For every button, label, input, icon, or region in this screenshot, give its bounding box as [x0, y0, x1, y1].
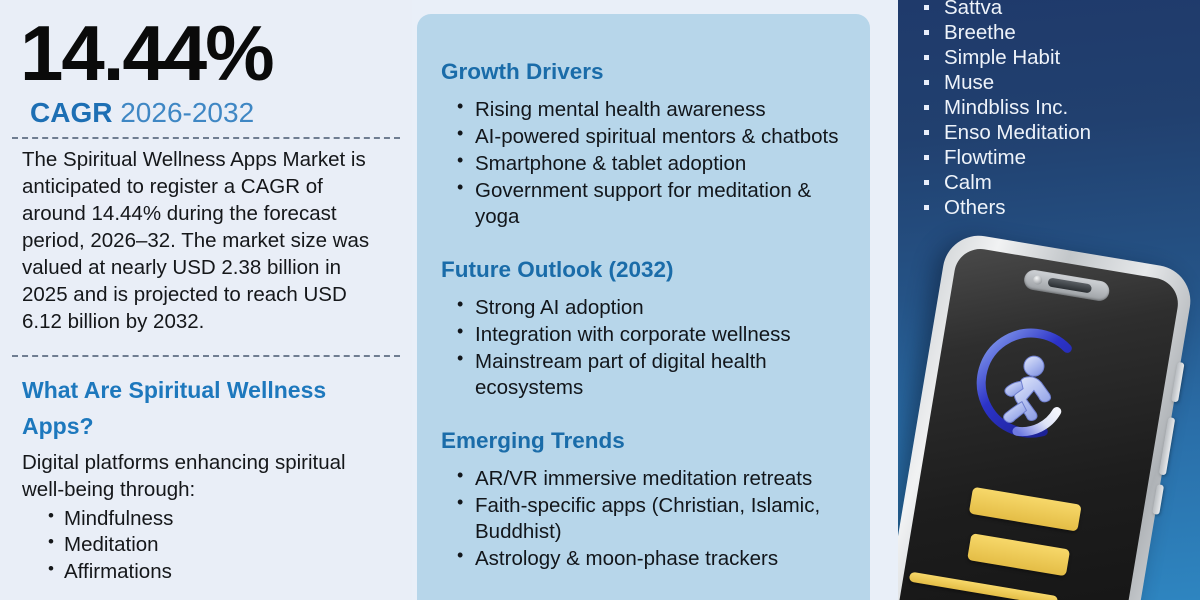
cagr-years: 2026-2032 — [120, 97, 254, 128]
phone-content-bar — [909, 572, 1059, 600]
list-item: AI-powered spiritual mentors & chatbots — [457, 124, 854, 150]
list-item: Simple Habit — [920, 45, 1200, 70]
right-panel: Sattva Breethe Simple Habit Muse Mindbli… — [898, 0, 1200, 600]
market-summary-text: The Spiritual Wellness Apps Market is an… — [12, 139, 400, 335]
cagr-label: CAGR — [30, 97, 112, 128]
phone-content-bar — [969, 487, 1082, 532]
cagr-value: 14.44% — [12, 0, 400, 92]
key-players-list: Sattva Breethe Simple Habit Muse Mindbli… — [920, 0, 1200, 220]
list-item: AR/VR immersive meditation retreats — [457, 466, 854, 492]
list-item: Smartphone & tablet adoption — [457, 151, 854, 177]
list-item: Government support for meditation & yoga — [457, 178, 854, 230]
divider-top — [12, 137, 400, 139]
list-item: Flowtime — [920, 145, 1200, 170]
list-item: Calm — [920, 170, 1200, 195]
list-item: Mainstream part of digital health ecosys… — [457, 349, 854, 401]
list-item: Strong AI adoption — [457, 295, 854, 321]
list-item: Rising mental health awareness — [457, 97, 854, 123]
list-item: Others — [920, 195, 1200, 220]
phone-screen — [898, 245, 1182, 600]
list-item: Sattva — [920, 0, 1200, 20]
infographic-canvas: 14.44% CAGR 2026-2032 The Spiritual Well… — [0, 0, 1200, 600]
list-item: Integration with corporate wellness — [457, 322, 854, 348]
phone-side-button — [1152, 484, 1164, 515]
list-item: Faith-specific apps (Christian, Islamic,… — [457, 493, 854, 545]
left-column: 14.44% CAGR 2026-2032 The Spiritual Well… — [0, 0, 412, 600]
list-item: Affirmations — [48, 559, 400, 586]
list-item: Astrology & moon-phase trackers — [457, 546, 854, 572]
list-item: Mindbliss Inc. — [920, 95, 1200, 120]
what-are-apps-heading: What Are Spiritual Wellness Apps? — [12, 357, 400, 444]
divider-middle — [12, 355, 400, 357]
emerging-trends-list: AR/VR immersive meditation retreats Fait… — [441, 466, 854, 572]
list-item: Breethe — [920, 20, 1200, 45]
phone-side-button — [1171, 362, 1185, 403]
list-item: Mindfulness — [48, 506, 400, 533]
middle-panel: Growth Drivers Rising mental health awar… — [417, 14, 870, 600]
cagr-subtitle: CAGR 2026-2032 — [12, 98, 400, 129]
future-outlook-heading: Future Outlook (2032) — [441, 256, 854, 283]
phone-content-bar — [967, 533, 1070, 576]
phone-notch-icon — [1023, 269, 1111, 303]
phone-side-button — [1159, 417, 1175, 475]
what-are-apps-intro: Digital platforms enhancing spiritual we… — [12, 444, 400, 503]
future-outlook-list: Strong AI adoption Integration with corp… — [441, 295, 854, 401]
list-item: Enso Meditation — [920, 120, 1200, 145]
panel-gutter — [870, 0, 898, 600]
growth-drivers-heading: Growth Drivers — [441, 58, 854, 85]
phone-body — [898, 230, 1196, 600]
list-item: Meditation — [48, 532, 400, 559]
what-are-apps-bullet-list: Mindfulness Meditation Affirmations — [12, 506, 400, 586]
running-figure-ring-icon — [954, 311, 1106, 463]
emerging-trends-heading: Emerging Trends — [441, 427, 854, 454]
list-item: Muse — [920, 70, 1200, 95]
growth-drivers-list: Rising mental health awareness AI-powere… — [441, 97, 854, 230]
